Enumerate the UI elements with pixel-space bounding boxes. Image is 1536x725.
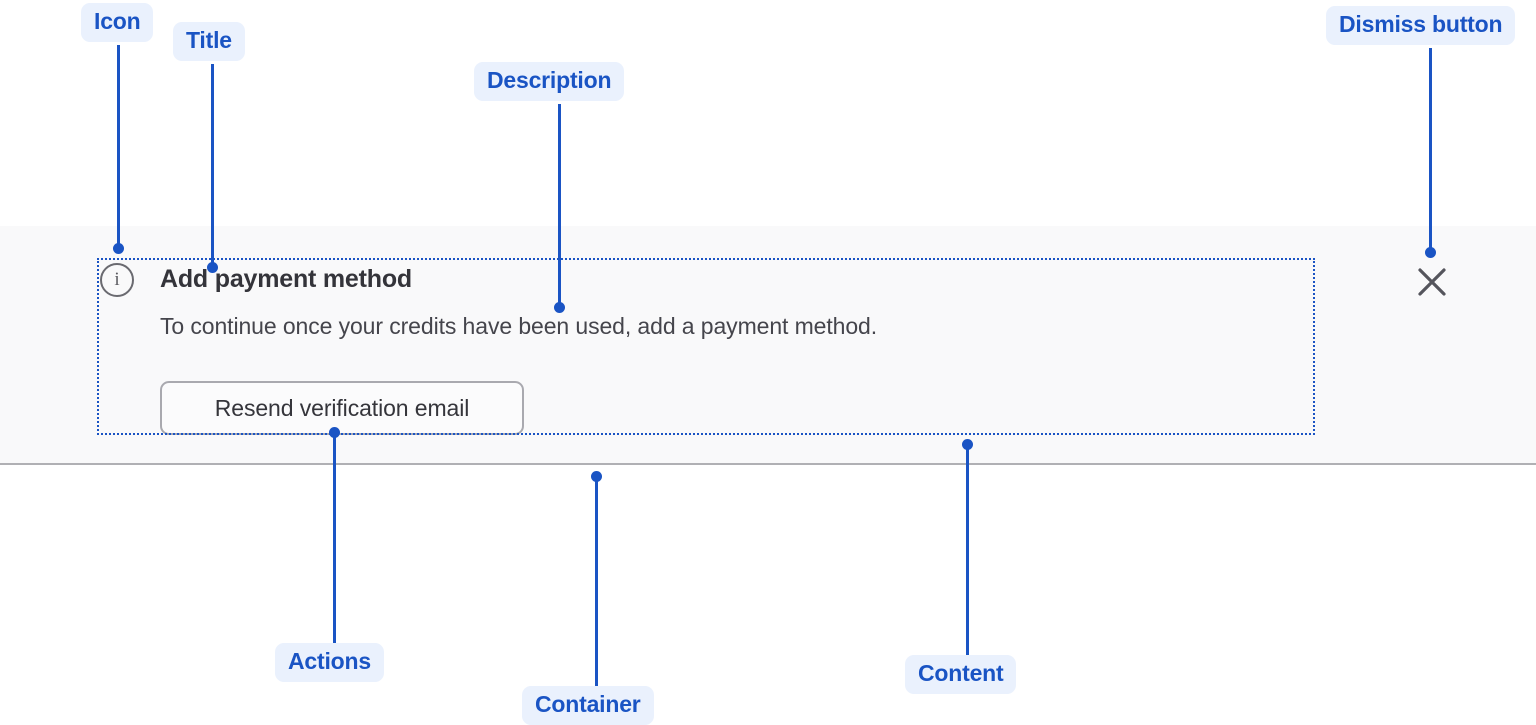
annotation-dot-content [962, 439, 973, 450]
annotation-label-container: Container [522, 686, 654, 725]
annotation-label-dismiss-button: Dismiss button [1326, 6, 1515, 45]
banner-description: To continue once your credits have been … [160, 313, 877, 340]
annotation-leader-title [211, 64, 214, 268]
annotation-label-content: Content [905, 655, 1016, 694]
close-x-icon [1415, 265, 1449, 299]
annotation-label-description: Description [474, 62, 624, 101]
annotation-dot-actions [329, 427, 340, 438]
annotation-dot-description [554, 302, 565, 313]
info-circle-icon: i [100, 263, 134, 297]
annotation-leader-description [558, 104, 561, 308]
dismiss-button[interactable] [1415, 265, 1449, 299]
banner-title: Add payment method [160, 265, 412, 294]
annotation-leader-dismiss-button [1429, 48, 1432, 253]
annotation-label-title: Title [173, 22, 245, 61]
annotation-leader-container [595, 480, 598, 686]
annotation-dot-icon [113, 243, 124, 254]
annotation-dot-title [207, 262, 218, 273]
annotation-dot-container [591, 471, 602, 482]
annotation-leader-content [966, 448, 969, 655]
annotation-dot-dismiss-button [1425, 247, 1436, 258]
annotation-label-actions: Actions [275, 643, 384, 682]
resend-verification-email-button[interactable]: Resend verification email [160, 381, 524, 435]
annotation-label-icon: Icon [81, 3, 153, 42]
annotation-leader-actions [333, 436, 336, 643]
annotation-leader-icon [117, 45, 120, 249]
